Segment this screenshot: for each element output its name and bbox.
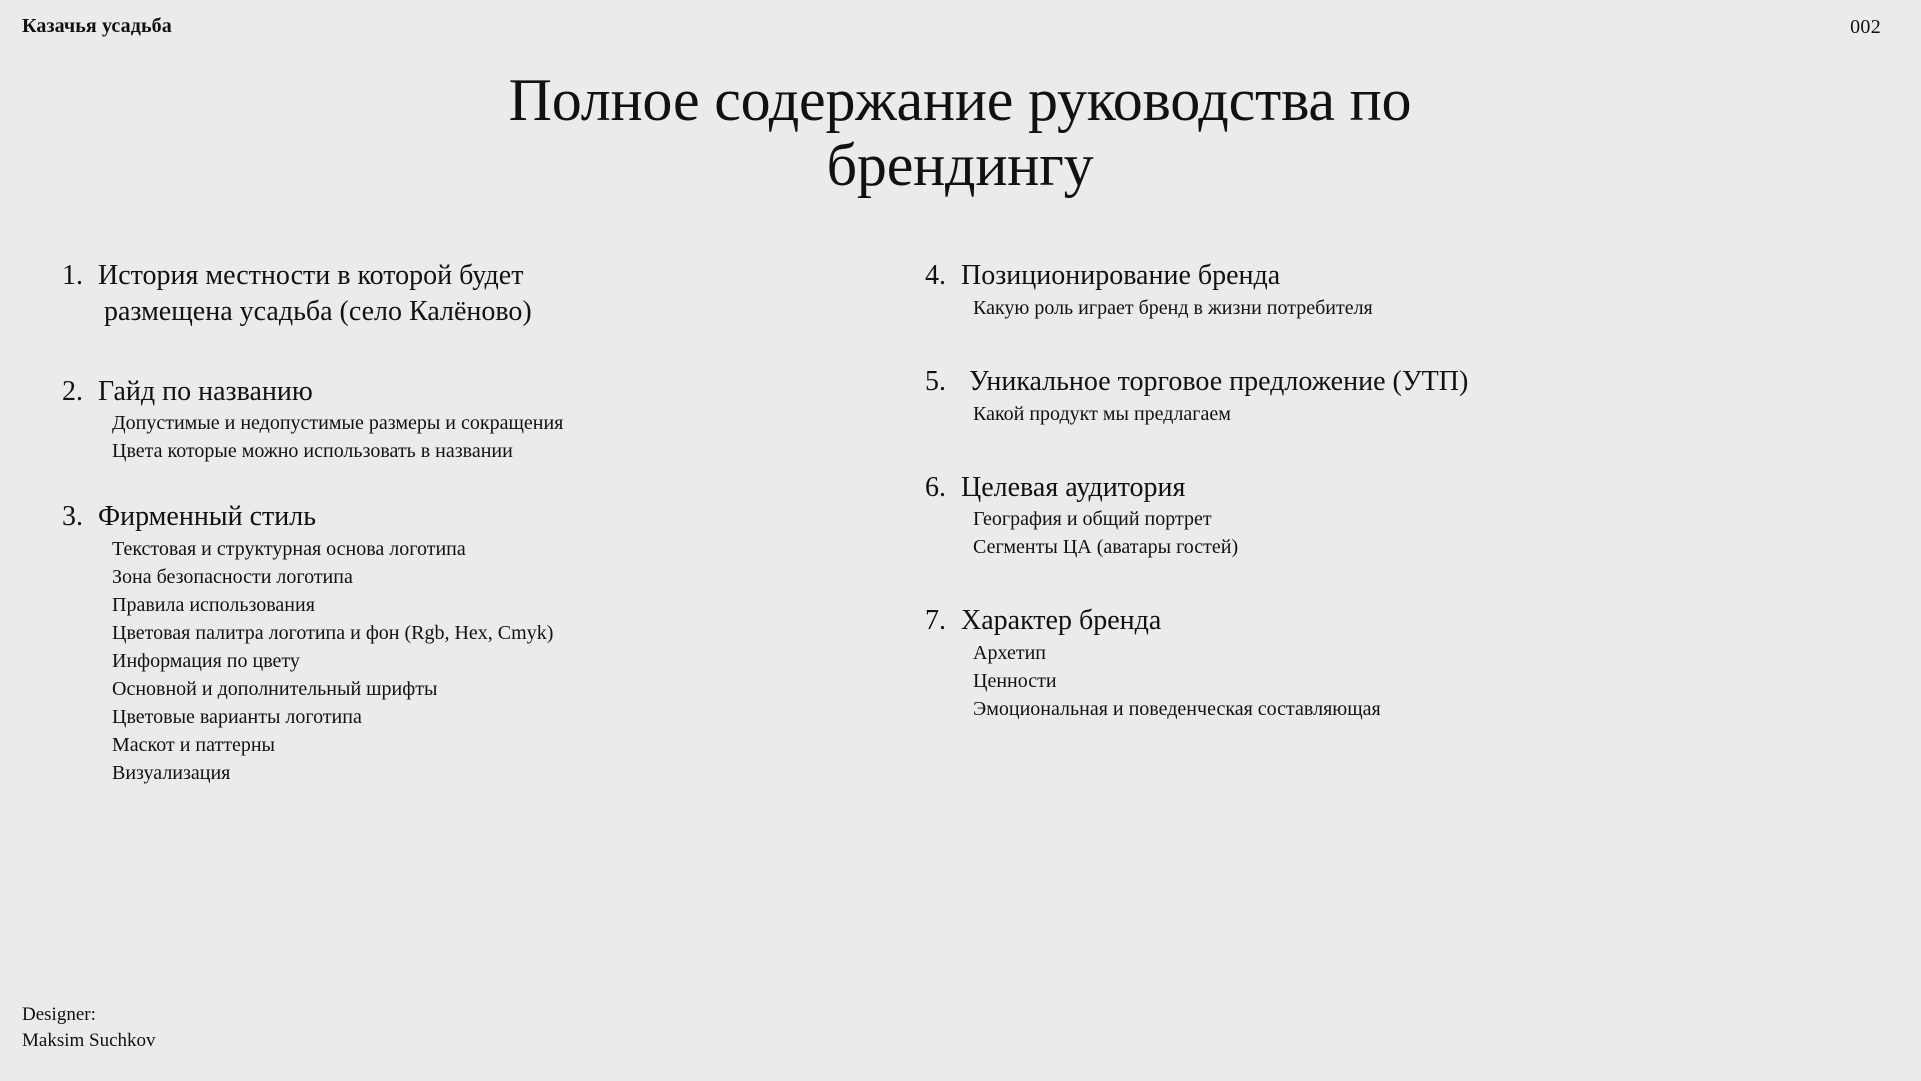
list-item: Цветовая палитра логотипа и фон (Rgb, He… <box>112 621 822 645</box>
toc-item-1-title-line1: История местности в которой будет <box>98 260 523 291</box>
toc-item-4-title: Позиционирование бренда <box>961 260 1280 291</box>
toc-item-1-title-line2: размещена усадьба (село Калёново) <box>62 294 822 330</box>
toc-item-3-number: 3. <box>62 499 98 535</box>
toc-column-left: 1.История местности в которой будет разм… <box>62 258 822 789</box>
list-item: Цветовые варианты логотипа <box>112 705 822 729</box>
toc-item-1-number: 1. <box>62 258 98 294</box>
toc-item-7-sublist: Архетип Ценности Эмоциональная и поведен… <box>925 641 1785 721</box>
toc-item-3-heading: 3.Фирменный стиль <box>62 499 822 535</box>
list-item: Допустимые и недопустимые размеры и сокр… <box>112 411 822 435</box>
list-item: Визуализация <box>112 761 822 785</box>
toc-item-4[interactable]: 4.Позиционирование бренда Какую роль игр… <box>925 258 1785 320</box>
list-item: Какой продукт мы предлагаем <box>973 402 1785 426</box>
title-block: Полное содержание руководства по брендин… <box>440 68 1480 198</box>
page-title: Полное содержание руководства по брендин… <box>440 68 1480 198</box>
slide-canvas: Казачья усадьба 002 Полное содержание ру… <box>0 0 1921 1081</box>
list-item: Правила использования <box>112 593 822 617</box>
list-item: Маскот и паттерны <box>112 733 822 757</box>
list-item: Ценности <box>973 669 1785 693</box>
toc-item-5-number: 5. <box>925 364 969 400</box>
toc-item-7[interactable]: 7.Характер бренда Архетип Ценности Эмоци… <box>925 603 1785 721</box>
toc-item-3[interactable]: 3.Фирменный стиль Текстовая и структурна… <box>62 499 822 785</box>
toc-item-3-title: Фирменный стиль <box>98 501 316 532</box>
toc-item-3-sublist: Текстовая и структурная основа логотипа … <box>62 537 822 785</box>
list-item: Эмоциональная и поведенческая составляющ… <box>973 697 1785 721</box>
toc-item-1-heading: 1.История местности в которой будет разм… <box>62 258 822 330</box>
brand-label: Казачья усадьба <box>22 14 172 38</box>
designer-credit: Designer: Maksim Suchkov <box>22 1002 156 1053</box>
toc-item-2-number: 2. <box>62 374 98 410</box>
toc-item-2-heading: 2.Гайд по названию <box>62 374 822 410</box>
toc-item-5-title: Уникальное торговое предложение (УТП) <box>969 366 1468 397</box>
list-item: Зона безопасности логотипа <box>112 565 822 589</box>
toc-item-2-sublist: Допустимые и недопустимые размеры и сокр… <box>62 411 822 463</box>
slide-header: Казачья усадьба 002 <box>0 0 1921 56</box>
designer-name: Maksim Suchkov <box>22 1028 156 1053</box>
toc-columns: 1.История местности в которой будет разм… <box>0 258 1921 958</box>
list-item: Текстовая и структурная основа логотипа <box>112 537 822 561</box>
toc-column-right: 4.Позиционирование бренда Какую роль игр… <box>925 258 1785 725</box>
toc-item-5-heading: 5.Уникальное торговое предложение (УТП) <box>925 364 1785 400</box>
list-item: Цвета которые можно использовать в назва… <box>112 439 822 463</box>
toc-item-2[interactable]: 2.Гайд по названию Допустимые и недопуст… <box>62 374 822 464</box>
toc-item-5[interactable]: 5.Уникальное торговое предложение (УТП) … <box>925 364 1785 426</box>
toc-item-7-title: Характер бренда <box>961 605 1161 636</box>
list-item: Основной и дополнительный шрифты <box>112 677 822 701</box>
toc-item-7-heading: 7.Характер бренда <box>925 603 1785 639</box>
list-item: Сегменты ЦА (аватары гостей) <box>973 535 1785 559</box>
toc-item-4-sublist: Какую роль играет бренд в жизни потребит… <box>925 296 1785 320</box>
toc-item-1[interactable]: 1.История местности в которой будет разм… <box>62 258 822 330</box>
toc-item-2-title: Гайд по названию <box>98 376 313 407</box>
list-item: Информация по цвету <box>112 649 822 673</box>
page-number: 002 <box>1850 15 1881 39</box>
toc-item-6-sublist: География и общий портрет Сегменты ЦА (а… <box>925 507 1785 559</box>
toc-item-6-heading: 6.Целевая аудитория <box>925 470 1785 506</box>
toc-item-4-number: 4. <box>925 258 961 294</box>
toc-item-7-number: 7. <box>925 603 961 639</box>
toc-item-6[interactable]: 6.Целевая аудитория География и общий по… <box>925 470 1785 560</box>
list-item: Какую роль играет бренд в жизни потребит… <box>973 296 1785 320</box>
toc-item-5-sublist: Какой продукт мы предлагаем <box>925 402 1785 426</box>
toc-item-6-number: 6. <box>925 470 961 506</box>
toc-item-6-title: Целевая аудитория <box>961 472 1185 503</box>
designer-role-label: Designer: <box>22 1002 156 1027</box>
list-item: Архетип <box>973 641 1785 665</box>
toc-item-4-heading: 4.Позиционирование бренда <box>925 258 1785 294</box>
list-item: География и общий портрет <box>973 507 1785 531</box>
